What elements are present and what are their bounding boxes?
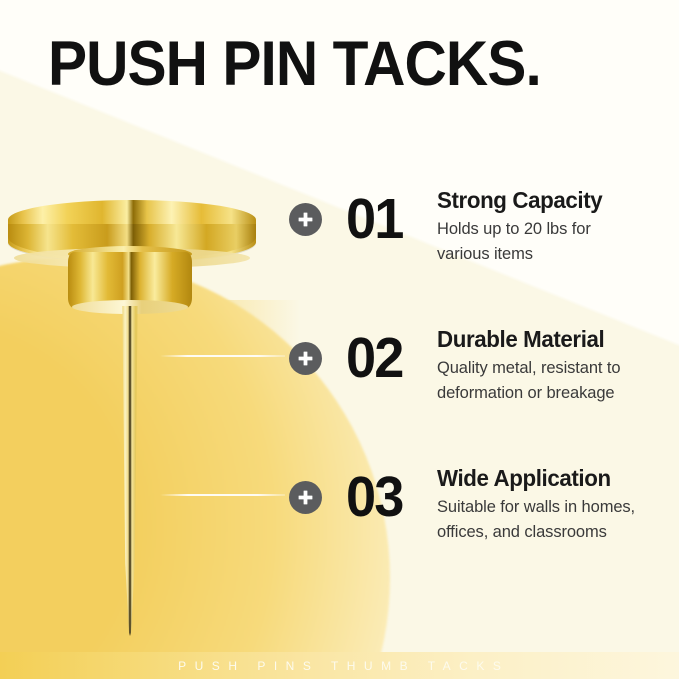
feature-body-line: Suitable for walls in homes,: [437, 495, 679, 520]
feature-number: 01: [346, 188, 402, 250]
connector-line-02: [160, 355, 285, 357]
feature-text-block: Durable Material Quality metal, resistan…: [437, 325, 679, 406]
feature-text-block: Strong Capacity Holds up to 20 lbs for v…: [437, 186, 679, 267]
feature-body: Quality metal, resistant to deformation …: [437, 356, 679, 406]
feature-row-02: 02 Durable Material Quality metal, resis…: [289, 327, 679, 427]
feature-heading: Durable Material: [437, 325, 679, 353]
feature-heading: Strong Capacity: [437, 186, 679, 214]
feature-row-01: 01 Strong Capacity Holds up to 20 lbs fo…: [289, 188, 679, 288]
product-infographic-poster: PUSH PIN TACKS. 01 Strong Capacity Holds…: [0, 0, 679, 679]
bottom-banner: PUSH PINS THUMB TACKS: [0, 652, 679, 679]
feature-body: Holds up to 20 lbs for various items: [437, 217, 679, 267]
feature-body-line: offices, and classrooms: [437, 520, 679, 545]
plus-circle-icon[interactable]: [289, 481, 322, 514]
feature-body-line: Quality metal, resistant to: [437, 356, 679, 381]
feature-body: Suitable for walls in homes, offices, an…: [437, 495, 679, 545]
feature-body-line: Holds up to 20 lbs for: [437, 217, 679, 242]
feature-number: 02: [346, 327, 402, 389]
feature-number: 03: [346, 466, 402, 528]
feature-heading: Wide Application: [437, 464, 679, 492]
plus-circle-icon[interactable]: [289, 342, 322, 375]
page-title: PUSH PIN TACKS.: [48, 28, 541, 100]
feature-body-line: various items: [437, 242, 679, 267]
push-pin-illustration: [0, 190, 280, 560]
banner-text: PUSH PINS THUMB TACKS: [170, 659, 510, 673]
feature-row-03: 03 Wide Application Suitable for walls i…: [289, 466, 679, 566]
connector-line-03: [160, 494, 285, 496]
feature-body-line: deformation or breakage: [437, 381, 679, 406]
plus-circle-icon[interactable]: [289, 203, 322, 236]
feature-text-block: Wide Application Suitable for walls in h…: [437, 464, 679, 545]
